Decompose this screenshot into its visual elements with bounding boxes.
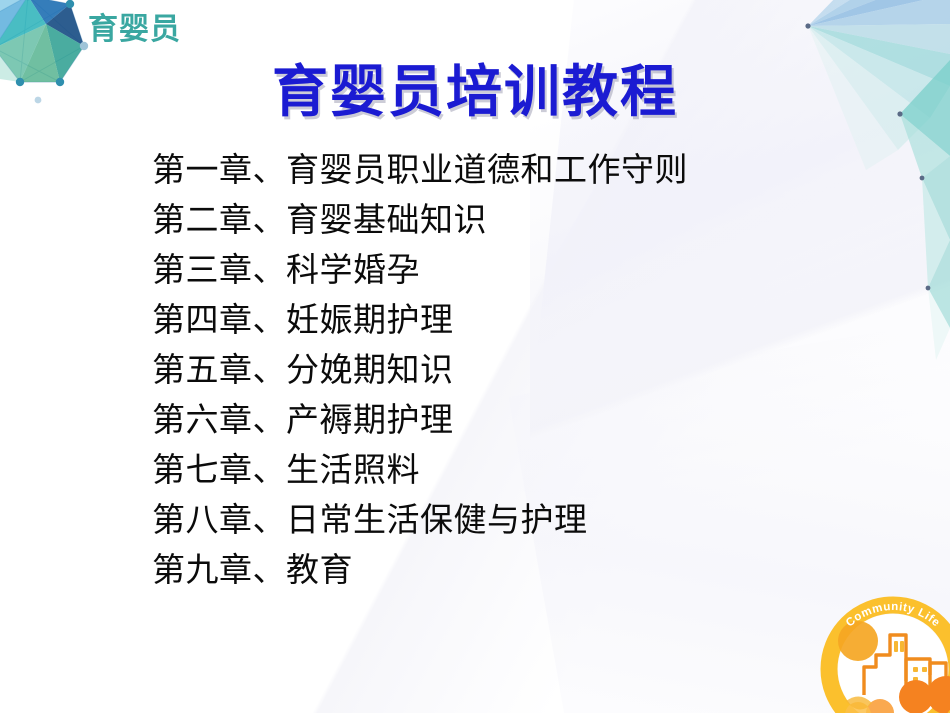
chapter-item: 第六章、产褥期护理 xyxy=(152,396,872,446)
chapter-item: 第三章、科学婚孕 xyxy=(152,246,872,296)
community-life-badge: Community Life xyxy=(818,589,950,713)
chapter-item: 第七章、生活照料 xyxy=(152,446,872,496)
chapter-item: 第一章、育婴员职业道德和工作守则 xyxy=(152,146,872,196)
brand-wordmark: 育婴员 xyxy=(88,15,181,45)
chapter-item: 第五章、分娩期知识 xyxy=(152,346,872,396)
chapter-item: 第四章、妊娠期护理 xyxy=(152,296,872,346)
chapter-item: 第二章、育婴基础知识 xyxy=(152,196,872,246)
page-title: 育婴员培训教程 xyxy=(0,62,950,125)
chapter-item: 第九章、教育 xyxy=(152,546,872,596)
presentation-slide: 育婴员 xyxy=(0,0,950,713)
chapter-item: 第八章、日常生活保健与护理 xyxy=(152,496,872,546)
chapter-list: 第一章、育婴员职业道德和工作守则 第二章、育婴基础知识 第三章、科学婚孕 第四章… xyxy=(152,146,872,596)
